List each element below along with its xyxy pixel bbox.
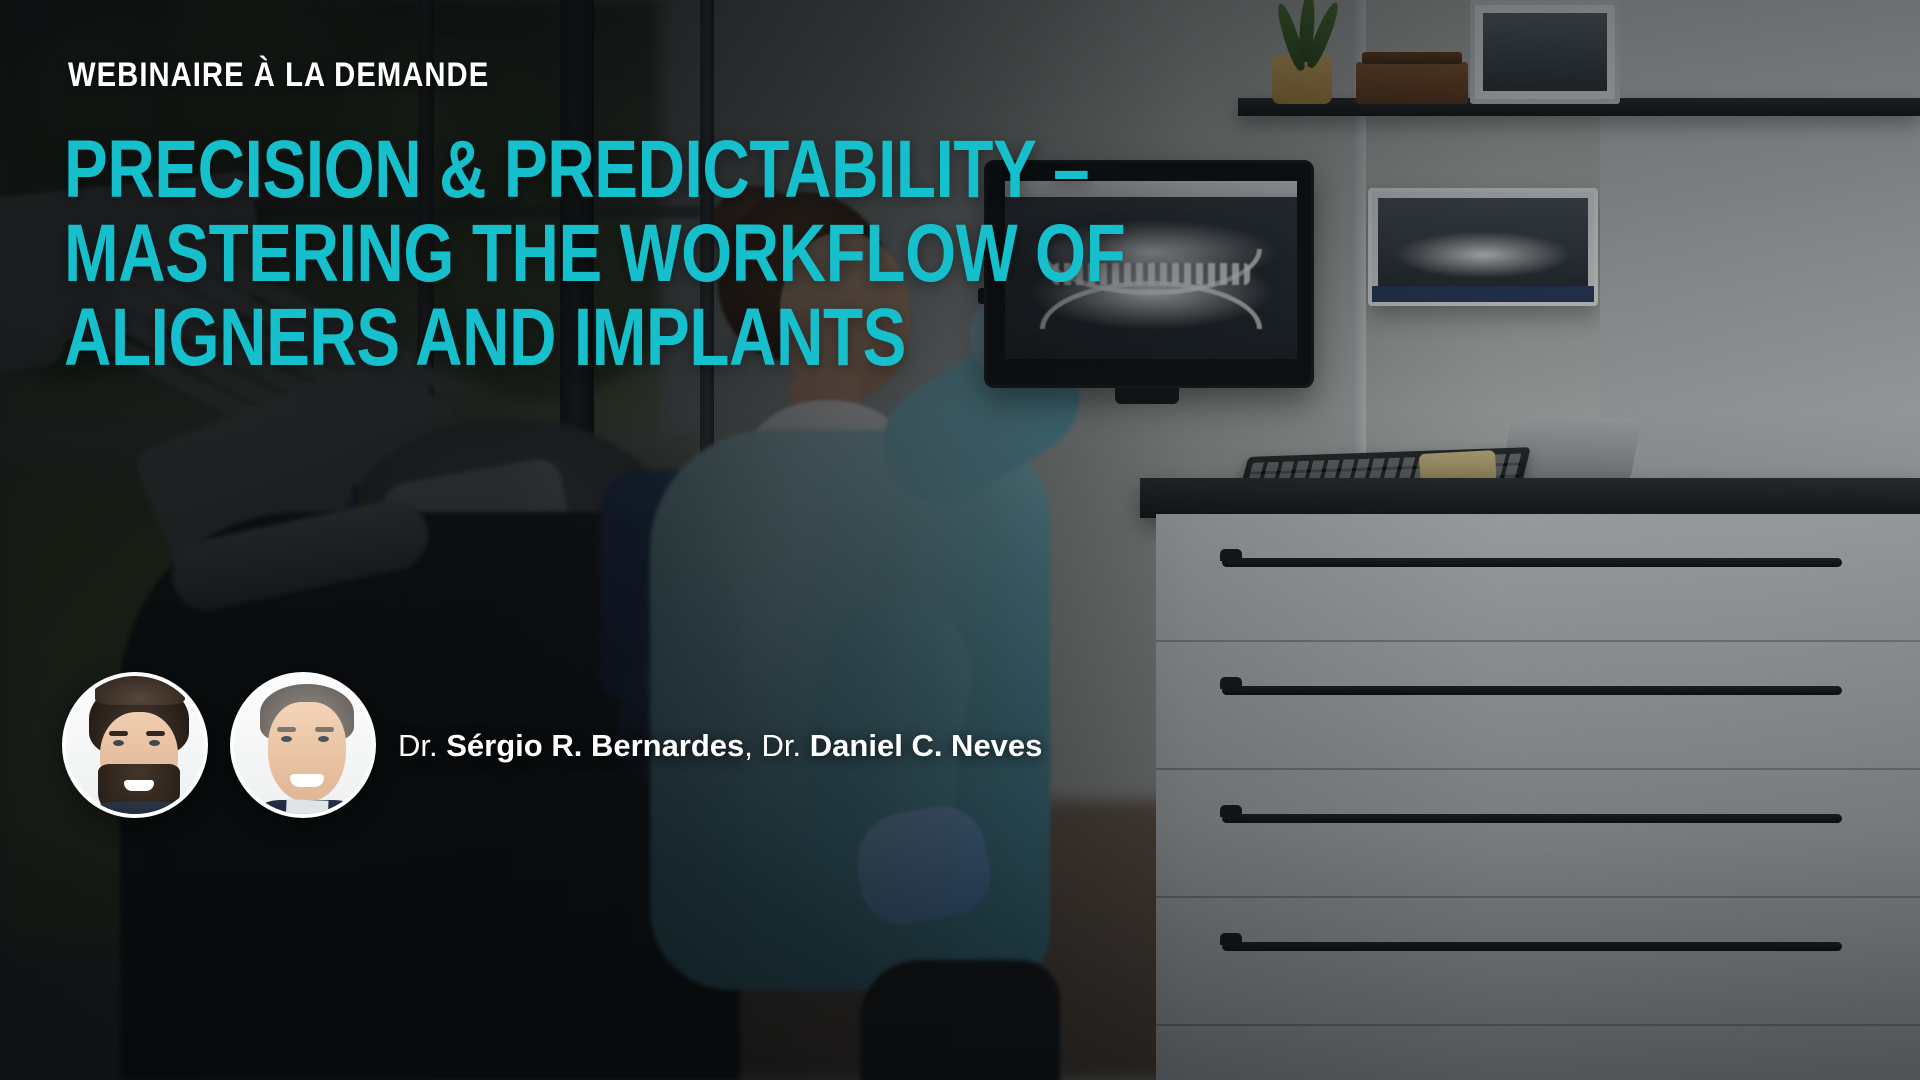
- avatar-eye: [149, 740, 160, 746]
- avatar: [230, 672, 376, 818]
- avatar-smile: [290, 774, 324, 787]
- headline-line-1: PRECISION & PREDICTABILITY –: [64, 128, 944, 212]
- avatar-collar: [285, 799, 328, 818]
- speaker-2-name: Daniel C. Neves: [810, 728, 1043, 763]
- page-title: PRECISION & PREDICTABILITY – MASTERING T…: [64, 128, 1164, 380]
- avatar-eye: [318, 736, 329, 742]
- banner-content: WEBINAIRE À LA DEMANDE PRECISION & PREDI…: [0, 0, 1920, 1080]
- headline-line-3: ALIGNERS AND IMPLANTS: [64, 296, 944, 380]
- avatar: [62, 672, 208, 818]
- headline-line-2: MASTERING THE WORKFLOW OF: [64, 212, 944, 296]
- avatar-brow: [277, 727, 296, 732]
- avatar-eye: [113, 740, 124, 746]
- webinar-banner: WEBINAIRE À LA DEMANDE PRECISION & PREDI…: [0, 0, 1920, 1080]
- avatar-brow: [315, 727, 334, 732]
- avatar-face: [268, 702, 346, 802]
- avatar-smile: [124, 780, 154, 791]
- eyebrow-label: WEBINAIRE À LA DEMANDE: [68, 56, 489, 95]
- speaker-avatars: [62, 672, 1062, 862]
- avatar-brow: [146, 731, 165, 736]
- speaker-1-name: Sérgio R. Bernardes: [446, 728, 744, 763]
- avatar-brow: [109, 731, 128, 736]
- speaker-1-title: Dr.: [398, 728, 438, 763]
- speaker-byline: Dr. Sérgio R. Bernardes, Dr. Daniel C. N…: [398, 728, 1042, 764]
- byline-separator: ,: [744, 728, 753, 763]
- speaker-2-title: Dr.: [762, 728, 802, 763]
- avatar-eye: [281, 736, 292, 742]
